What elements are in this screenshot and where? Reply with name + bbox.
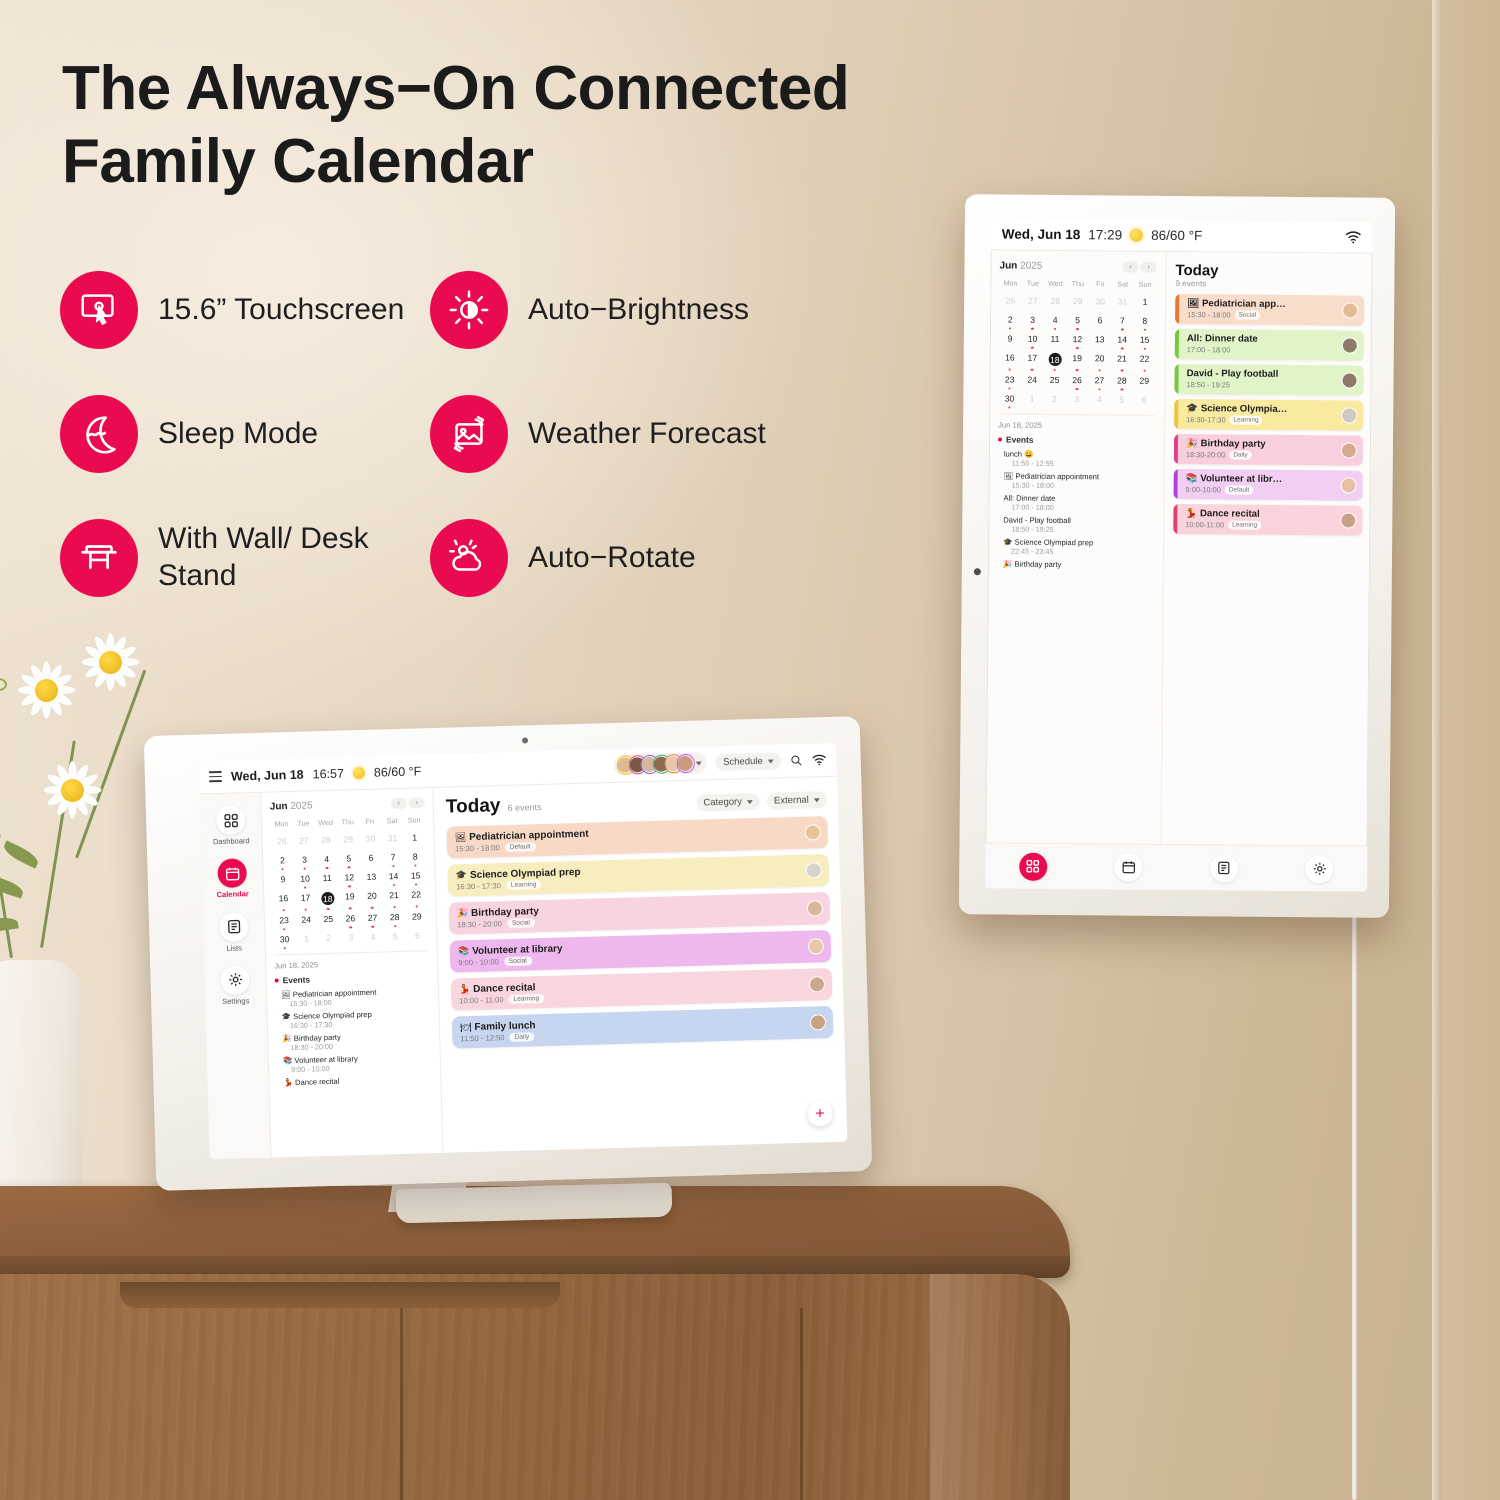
event-card[interactable]: 🎉Birthday party18:30 - 20:00Social bbox=[449, 892, 831, 935]
mini-calendar-grid[interactable]: 2627282930311234567891011121314151617181… bbox=[271, 829, 429, 950]
calendar-day-cell: 28 bbox=[315, 832, 338, 852]
agenda-item[interactable]: David - Play football18:50 - 19:25 bbox=[997, 515, 1154, 534]
event-time: 18:50 - 19:25 bbox=[1186, 380, 1230, 389]
ambient-light-sensor bbox=[522, 737, 528, 743]
portrait-mini-calendar-panel: Jun 2025 ‹ › MonTueWedThuFriSatSun 26272… bbox=[985, 250, 1166, 844]
calendar-day-cell[interactable]: 4 bbox=[315, 851, 338, 871]
calendar-day-cell[interactable]: 24 bbox=[295, 911, 318, 931]
event-list: 🖼 Pediatrician app…15:30 - 18:00SocialAl… bbox=[1173, 294, 1364, 536]
calendar-day-cell[interactable]: 10 bbox=[294, 870, 317, 890]
event-title: Birthday party bbox=[471, 906, 539, 919]
feature-weather-forecast: Weather Forecast bbox=[430, 372, 860, 496]
weekday-label: Thu bbox=[337, 817, 360, 832]
sideboard-rounded-corner bbox=[930, 1274, 1070, 1500]
calendar-day-cell[interactable]: 21 bbox=[383, 887, 406, 910]
calendar-day-cell[interactable]: 18 bbox=[316, 889, 339, 912]
event-tag: Default bbox=[1225, 485, 1253, 494]
calendar-day-cell[interactable]: 22 bbox=[405, 886, 428, 909]
calendar-day-cell[interactable]: 9 bbox=[272, 871, 295, 891]
event-tag: Daily bbox=[1229, 450, 1251, 459]
event-tag: Learning bbox=[1228, 520, 1261, 529]
calendar-day-cell: 5 bbox=[384, 928, 407, 948]
event-tag: Social bbox=[504, 956, 532, 966]
chevron-down-icon bbox=[768, 759, 774, 763]
settings-gear-icon bbox=[220, 965, 250, 995]
weekday-label: Fri bbox=[1089, 279, 1112, 293]
event-time: 15:30 - 18:00 bbox=[1187, 310, 1231, 319]
sleep-mode-icon bbox=[60, 395, 138, 473]
mini-calendar-title: Jun 2025 bbox=[999, 260, 1042, 271]
calendar-day-cell: 31 bbox=[381, 830, 404, 850]
calendar-day-cell: 3 bbox=[340, 929, 363, 949]
wall-corner-edge bbox=[1432, 0, 1442, 1500]
calendar-day-cell[interactable]: 18 bbox=[1043, 350, 1066, 372]
attendee-avatar bbox=[1340, 512, 1356, 528]
schedule-dropdown[interactable]: Schedule bbox=[716, 752, 781, 771]
event-time: 16:30 - 17:30 bbox=[456, 881, 501, 891]
agenda-item-time: 18:50 - 19:25 bbox=[1003, 524, 1154, 534]
calendar-day-cell[interactable]: 29 bbox=[406, 908, 429, 928]
attendee-avatar bbox=[1341, 477, 1357, 493]
calendar-day-cell[interactable]: 10 bbox=[1021, 331, 1044, 350]
weekday-label: Mon bbox=[999, 278, 1022, 292]
ceramic-vase bbox=[0, 960, 82, 1222]
agenda-item[interactable]: lunch 😀11:55 - 12:55 bbox=[998, 449, 1155, 468]
event-card[interactable]: 🍽Family lunch11:50 - 12:50Daily bbox=[452, 1006, 834, 1049]
weekday-label: Wed bbox=[1044, 279, 1067, 293]
chevron-down-icon[interactable] bbox=[696, 761, 702, 765]
calendar-day-cell: 27 bbox=[1022, 293, 1045, 312]
event-tag: Learning bbox=[506, 880, 542, 890]
agenda-item[interactable]: All: Dinner date17:00 - 18:00 bbox=[997, 493, 1154, 512]
calendar-day-cell[interactable]: 24 bbox=[1021, 372, 1044, 391]
event-color-bar bbox=[1175, 294, 1179, 324]
event-title: All: Dinner date bbox=[1181, 333, 1358, 346]
event-title: 🖼 Pediatrician app… bbox=[1181, 298, 1358, 311]
calendar-day-cell: 29 bbox=[337, 831, 360, 851]
sidebar-label: Dashboard bbox=[204, 837, 258, 847]
portrait-display-device: Wed, Jun 18 17:29 86/60 °F Jun 2025 bbox=[959, 194, 1395, 918]
nav-item-calendar[interactable] bbox=[1114, 853, 1142, 881]
attendee-avatar bbox=[1342, 302, 1358, 318]
weekday-label: Tue bbox=[1022, 279, 1045, 293]
calendar-day-cell[interactable]: 26 bbox=[339, 910, 362, 930]
chevron-right-icon[interactable]: › bbox=[1140, 262, 1156, 273]
weekday-label: Sat bbox=[381, 816, 404, 831]
external-filter-dropdown[interactable]: External bbox=[767, 791, 827, 810]
event-emoji-icon: 🍽 bbox=[460, 1022, 472, 1033]
avatar-group[interactable] bbox=[614, 752, 708, 776]
wifi-icon bbox=[1345, 229, 1362, 244]
calendar-day-cell: 1 bbox=[1021, 391, 1044, 410]
header-time: 16:57 bbox=[312, 766, 344, 781]
event-title: 💃 Dance recital bbox=[1179, 508, 1356, 521]
event-emoji-icon: 💃 bbox=[459, 984, 471, 995]
event-list: 🖼Pediatrician appointment15:30 - 18:00De… bbox=[446, 816, 833, 1049]
calendar-day-cell[interactable]: 11 bbox=[316, 870, 339, 890]
calendar-day-cell[interactable]: 30 bbox=[998, 390, 1021, 409]
agenda-item-time: 11:55 - 12:55 bbox=[1004, 458, 1155, 468]
event-title: Family lunch bbox=[474, 1020, 535, 1033]
event-time: 18:30-20:00 bbox=[1186, 450, 1226, 459]
calendar-day-cell[interactable]: 1 bbox=[403, 829, 426, 849]
landscape-display-device: Wed, Jun 18 16:57 86/60 °F Schedule bbox=[144, 716, 872, 1191]
calendar-day-cell[interactable]: 2 bbox=[271, 852, 294, 872]
event-color-bar bbox=[1175, 329, 1179, 359]
calendar-day-cell[interactable]: 26 bbox=[1066, 372, 1089, 391]
calendar-day-cell: 5 bbox=[1110, 391, 1133, 410]
nav-item-dashboard[interactable] bbox=[1019, 852, 1047, 880]
calendar-day-cell[interactable]: 20 bbox=[1088, 350, 1111, 372]
dashboard-icon bbox=[216, 805, 246, 835]
mini-calendar-weekday-row: MonTueWedThuFriSatSun bbox=[999, 278, 1156, 293]
event-time: 17:00 - 18:00 bbox=[1187, 345, 1231, 354]
weekday-label: Mon bbox=[270, 819, 293, 834]
event-title: 📚 Volunteer at libr… bbox=[1180, 473, 1357, 486]
feature-sleep-mode: Sleep Mode bbox=[60, 372, 430, 496]
event-tag: Learning bbox=[508, 994, 544, 1004]
chevron-down-icon bbox=[814, 798, 820, 802]
attendee-avatar bbox=[1341, 407, 1357, 423]
event-time: 9:00 - 10:00 bbox=[458, 957, 499, 967]
event-color-bar bbox=[1174, 399, 1178, 429]
event-time: 18:30 - 20:00 bbox=[457, 919, 502, 929]
calendar-day-cell[interactable]: 6 bbox=[1089, 312, 1112, 331]
event-time: 16:30-17:30 bbox=[1186, 415, 1226, 424]
landscape-main-panel: Today 6 events Category External 🖼Pediat… bbox=[433, 777, 847, 1153]
agenda-item[interactable]: 🖼 Pediatrician appointment15:30 - 18:00 bbox=[998, 471, 1155, 490]
event-time: 10:00-11:00 bbox=[1185, 520, 1224, 529]
header-time: 17:29 bbox=[1088, 227, 1122, 242]
calendar-icon bbox=[217, 859, 247, 889]
calendar-day-cell[interactable]: 30 bbox=[273, 931, 296, 951]
header-temperature: 86/60 °F bbox=[1151, 228, 1202, 243]
event-time: 11:50 - 12:50 bbox=[460, 1033, 504, 1043]
event-card[interactable]: 🎉 Birthday party18:30-20:00Daily bbox=[1174, 434, 1363, 466]
calendar-day-cell: 6 bbox=[406, 927, 429, 947]
auto-brightness-icon bbox=[430, 271, 508, 349]
calendar-day-cell[interactable]: 5 bbox=[337, 850, 360, 870]
sun-icon bbox=[353, 766, 365, 778]
header-date: Wed, Jun 18 bbox=[1002, 226, 1081, 242]
sidebar-label: Settings bbox=[209, 997, 263, 1007]
event-emoji-icon: 🎓 bbox=[456, 870, 468, 881]
calendar-day-cell[interactable]: 27 bbox=[361, 909, 384, 929]
event-tag: Daily bbox=[509, 1032, 534, 1042]
feature-label: Weather Forecast bbox=[528, 416, 766, 453]
calendar-day-cell[interactable]: 23 bbox=[273, 912, 296, 932]
sidebar-item-dashboard[interactable]: Dashboard bbox=[203, 805, 258, 847]
event-card[interactable]: 📚 Volunteer at libr…9:00-10:00Default bbox=[1173, 469, 1362, 501]
calendar-day-cell[interactable]: 3 bbox=[293, 851, 316, 871]
calendar-day-cell: 4 bbox=[362, 928, 385, 948]
event-card[interactable]: 🎓 Science Olympia…16:30-17:30Learning bbox=[1174, 399, 1363, 431]
weekday-label: Thu bbox=[1067, 279, 1090, 293]
agenda-date: Jun 18, 2025 bbox=[274, 957, 429, 970]
calendar-day-cell[interactable]: 28 bbox=[383, 909, 406, 929]
calendar-day-cell[interactable]: 7 bbox=[382, 849, 405, 869]
event-time: 10:00 - 11:00 bbox=[459, 995, 503, 1005]
feature-label: Sleep Mode bbox=[158, 416, 318, 453]
event-emoji-icon: 🖼 bbox=[455, 832, 467, 843]
today-heading: Today bbox=[1175, 262, 1364, 281]
sun-icon bbox=[1130, 229, 1143, 242]
calendar-day-cell[interactable]: 16 bbox=[272, 890, 295, 913]
add-event-button[interactable]: + bbox=[807, 1101, 833, 1127]
calendar-day-cell: 1 bbox=[295, 930, 318, 950]
ambient-light-sensor bbox=[974, 569, 981, 576]
calendar-day-cell: 30 bbox=[359, 830, 382, 850]
chevron-right-icon[interactable]: › bbox=[409, 797, 425, 808]
calendar-day-cell[interactable]: 25 bbox=[317, 911, 340, 931]
calendar-day-cell[interactable]: 13 bbox=[1088, 331, 1111, 350]
feature-list: 15.6” Touchscreen Auto−Brightness Sleep … bbox=[60, 248, 860, 598]
feature-label: With Wall/ Desk Stand bbox=[158, 521, 430, 594]
hamburger-menu-icon[interactable] bbox=[209, 771, 222, 782]
touchscreen-icon bbox=[60, 271, 138, 349]
event-card[interactable]: 📚Volunteer at library9:00 - 10:00Social bbox=[450, 930, 832, 973]
nav-item-settings[interactable] bbox=[1305, 855, 1333, 883]
weekday-label: Tue bbox=[292, 818, 315, 833]
calendar-day-cell[interactable]: 4 bbox=[1044, 312, 1067, 331]
landscape-mini-calendar-panel: Jun 2025 ‹ › MonTueWedThuFriSatSun 26272… bbox=[261, 788, 443, 1158]
landscape-screen: Wed, Jun 18 16:57 86/60 °F Schedule bbox=[198, 743, 847, 1160]
calendar-day-cell[interactable]: 14 bbox=[382, 868, 405, 888]
desk-stand-foot bbox=[396, 1183, 673, 1224]
agenda-item-time: 22:45 - 23:45 bbox=[1003, 546, 1154, 556]
agenda-list: 🖼 Pediatrician appointment15:30 - 18:00🎓… bbox=[275, 986, 433, 1087]
header-date: Wed, Jun 18 bbox=[231, 767, 304, 783]
cabinet-seam bbox=[800, 1308, 803, 1500]
calendar-day-cell: 2 bbox=[1043, 391, 1066, 410]
lists-icon bbox=[219, 912, 249, 942]
weekday-label: Sat bbox=[1111, 279, 1134, 293]
sidebar-item-calendar[interactable]: Calendar bbox=[205, 858, 260, 900]
calendar-day-cell[interactable]: 28 bbox=[1111, 372, 1134, 391]
portrait-screen: Wed, Jun 18 17:29 86/60 °F Jun 2025 bbox=[985, 218, 1373, 891]
agenda-heading: Events bbox=[275, 971, 430, 985]
event-tag: Learning bbox=[1230, 415, 1263, 424]
calendar-day-cell[interactable]: 23 bbox=[998, 371, 1021, 390]
feature-wall-desk-stand: With Wall/ Desk Stand bbox=[60, 496, 430, 620]
feature-auto-rotate: Auto−Rotate bbox=[430, 496, 860, 620]
event-card[interactable]: 🖼Pediatrician appointment15:30 - 18:00De… bbox=[446, 816, 828, 859]
portrait-bottom-nav bbox=[985, 842, 1367, 891]
calendar-day-cell[interactable]: 15 bbox=[404, 867, 427, 887]
event-color-bar bbox=[1174, 434, 1178, 464]
calendar-day-cell: 30 bbox=[1089, 293, 1112, 312]
avatar bbox=[677, 755, 694, 772]
calendar-day-cell[interactable]: 1 bbox=[1134, 294, 1157, 313]
event-emoji-icon: 📚 bbox=[458, 946, 470, 957]
today-event-count: 9 events bbox=[1175, 279, 1364, 290]
event-tag: Social bbox=[507, 918, 535, 928]
cabinet-handle bbox=[120, 1282, 560, 1308]
calendar-day-cell[interactable]: 13 bbox=[360, 868, 383, 888]
calendar-day-cell[interactable]: 12 bbox=[1066, 331, 1089, 350]
agenda-item[interactable]: 🎉 Birthday party bbox=[997, 559, 1154, 569]
calendar-day-cell[interactable]: 2 bbox=[999, 311, 1022, 330]
attendee-avatar bbox=[1341, 442, 1357, 458]
calendar-day-cell: 29 bbox=[1066, 293, 1089, 312]
calendar-day-cell[interactable]: 25 bbox=[1043, 372, 1066, 391]
event-card[interactable]: 🎓Science Olympiad prep16:30 - 17:30Learn… bbox=[447, 854, 829, 897]
weather-forecast-icon bbox=[430, 395, 508, 473]
agenda-item-time: 17:00 - 18:00 bbox=[1003, 502, 1154, 512]
calendar-day-cell: 6 bbox=[1133, 392, 1156, 411]
nav-item-lists[interactable] bbox=[1210, 854, 1238, 882]
event-title: David - Play football bbox=[1181, 368, 1358, 381]
sidebar-label: Calendar bbox=[206, 890, 260, 900]
agenda-heading: Events bbox=[998, 434, 1155, 445]
calendar-day-cell: 28 bbox=[1044, 293, 1067, 312]
agenda-item[interactable]: 🎓 Science Olympiad prep22:45 - 23:45 bbox=[997, 537, 1154, 556]
event-tag: Social bbox=[1235, 310, 1260, 319]
event-color-bar bbox=[1173, 504, 1177, 534]
schedule-label: Schedule bbox=[723, 756, 763, 768]
calendar-day-cell[interactable]: 19 bbox=[339, 888, 362, 911]
wifi-icon bbox=[812, 753, 827, 766]
calendar-day-cell: 31 bbox=[1111, 293, 1134, 312]
weekday-label: Sun bbox=[1134, 280, 1157, 294]
calendar-day-cell[interactable]: 3 bbox=[1021, 312, 1044, 331]
feature-label: Auto−Brightness bbox=[528, 292, 749, 329]
today-event-count: 6 events bbox=[507, 802, 541, 813]
calendar-day-cell: 2 bbox=[318, 930, 341, 950]
calendar-day-cell[interactable]: 29 bbox=[1133, 373, 1156, 392]
event-title: 🎉 Birthday party bbox=[1180, 438, 1357, 451]
calendar-day-cell[interactable]: 17 bbox=[294, 889, 317, 912]
sidebar-label: Lists bbox=[207, 943, 261, 953]
portrait-today-panel: Today 9 events 🖼 Pediatrician app…15:30 … bbox=[1161, 252, 1372, 846]
calendar-day-cell[interactable]: 11 bbox=[1044, 331, 1067, 350]
agenda-list: lunch 😀11:55 - 12:55🖼 Pediatrician appoi… bbox=[997, 449, 1155, 569]
feature-label: Auto−Rotate bbox=[528, 540, 696, 577]
event-color-bar bbox=[1174, 364, 1178, 394]
event-card[interactable]: 🖼 Pediatrician app…15:30 - 18:00Social bbox=[1175, 294, 1364, 326]
category-filter-dropdown[interactable]: Category bbox=[696, 793, 760, 812]
calendar-day-cell[interactable]: 7 bbox=[1111, 312, 1134, 331]
event-card[interactable]: All: Dinner date17:00 - 18:00 bbox=[1175, 329, 1364, 361]
wall-desk-stand-icon bbox=[60, 519, 138, 597]
landscape-sidebar: Dashboard Calendar Lists bbox=[199, 793, 271, 1160]
weekday-label: Sun bbox=[403, 815, 426, 830]
header-temperature: 86/60 °F bbox=[374, 764, 422, 779]
agenda-item-title: 💃 Dance recital bbox=[283, 1074, 432, 1087]
feature-label: 15.6” Touchscreen bbox=[158, 292, 404, 329]
calendar-day-cell: 27 bbox=[293, 832, 316, 852]
sidebar-item-lists[interactable]: Lists bbox=[206, 911, 261, 953]
calendar-day-cell: 3 bbox=[1066, 391, 1089, 410]
calendar-day-cell[interactable]: 8 bbox=[1134, 313, 1157, 332]
agenda-item[interactable]: 💃 Dance recital bbox=[277, 1074, 432, 1087]
event-tag: Default bbox=[505, 842, 536, 852]
chevron-left-icon[interactable]: ‹ bbox=[391, 798, 407, 809]
chevron-left-icon[interactable]: ‹ bbox=[1122, 262, 1138, 273]
portrait-topbar: Wed, Jun 18 17:29 86/60 °F bbox=[991, 218, 1373, 253]
mini-calendar-grid[interactable]: 2627282930311234567891011121314151617181… bbox=[998, 292, 1156, 410]
event-card[interactable]: 💃 Dance recital10:00-11:00Learning bbox=[1173, 504, 1362, 536]
mini-calendar-title: Jun 2025 bbox=[270, 800, 313, 812]
page-title: The Always−On Connected Family Calendar bbox=[62, 52, 1022, 198]
calendar-day-cell[interactable]: 27 bbox=[1088, 372, 1111, 391]
calendar-day-cell[interactable]: 12 bbox=[338, 869, 361, 889]
calendar-day-cell: 26 bbox=[271, 833, 294, 853]
event-color-bar bbox=[1173, 469, 1177, 499]
search-icon[interactable] bbox=[790, 754, 803, 767]
calendar-day-cell[interactable]: 8 bbox=[404, 848, 427, 868]
auto-rotate-icon bbox=[430, 519, 508, 597]
event-title: 🎓 Science Olympia… bbox=[1180, 403, 1357, 416]
calendar-day-cell[interactable]: 21 bbox=[1111, 350, 1134, 372]
event-emoji-icon: 🎉 bbox=[457, 908, 469, 919]
calendar-day-cell[interactable]: 19 bbox=[1066, 350, 1089, 372]
calendar-day-cell[interactable]: 9 bbox=[999, 330, 1022, 349]
feature-touchscreen: 15.6” Touchscreen bbox=[60, 248, 430, 372]
event-title: Dance recital bbox=[473, 982, 536, 995]
agenda-item[interactable]: 📚 Volunteer at library9:00 - 10:00 bbox=[277, 1052, 432, 1074]
calendar-day-cell[interactable]: 14 bbox=[1111, 331, 1134, 350]
calendar-day-cell[interactable]: 15 bbox=[1133, 332, 1156, 351]
power-cable bbox=[1352, 895, 1357, 1500]
agenda-item[interactable]: 🎉 Birthday party18:30 - 20:00 bbox=[276, 1030, 431, 1052]
agenda-item[interactable]: 🖼 Pediatrician appointment15:30 - 18:00 bbox=[275, 986, 430, 1008]
calendar-day-cell[interactable]: 5 bbox=[1066, 312, 1089, 331]
calendar-day-cell[interactable]: 22 bbox=[1133, 351, 1156, 373]
event-card[interactable]: 💃Dance recital10:00 - 11:00Learning bbox=[451, 968, 833, 1011]
attendee-avatar bbox=[1342, 337, 1358, 353]
calendar-day-cell[interactable]: 17 bbox=[1021, 350, 1044, 372]
cabinet-seam bbox=[400, 1308, 403, 1500]
event-time: 15:30 - 18:00 bbox=[455, 843, 500, 853]
sidebar-item-settings[interactable]: Settings bbox=[208, 965, 263, 1007]
weekday-label: Wed bbox=[314, 818, 337, 833]
chevron-down-icon bbox=[747, 800, 753, 804]
event-time: 9:00-10:00 bbox=[1186, 485, 1221, 494]
calendar-day-cell[interactable]: 16 bbox=[999, 349, 1022, 371]
agenda-item[interactable]: 🎓 Science Olympiad prep16:30 - 17:30 bbox=[276, 1008, 431, 1030]
event-card[interactable]: David - Play football18:50 - 19:25 bbox=[1174, 364, 1363, 396]
agenda-item-title: 🎉 Birthday party bbox=[1003, 559, 1154, 569]
calendar-day-cell[interactable]: 20 bbox=[361, 887, 384, 910]
attendee-avatar bbox=[1341, 372, 1357, 388]
today-heading: Today bbox=[446, 795, 501, 819]
calendar-day-cell: 26 bbox=[999, 292, 1022, 311]
calendar-day-cell: 4 bbox=[1088, 391, 1111, 410]
agenda-item-time: 15:30 - 18:00 bbox=[1004, 480, 1155, 490]
calendar-day-cell[interactable]: 6 bbox=[360, 849, 383, 869]
weekday-label: Fri bbox=[359, 816, 382, 831]
feature-auto-brightness: Auto−Brightness bbox=[430, 248, 860, 372]
wall-right-panel bbox=[1442, 0, 1500, 1500]
agenda-date: Jun 18, 2025 bbox=[998, 420, 1155, 430]
